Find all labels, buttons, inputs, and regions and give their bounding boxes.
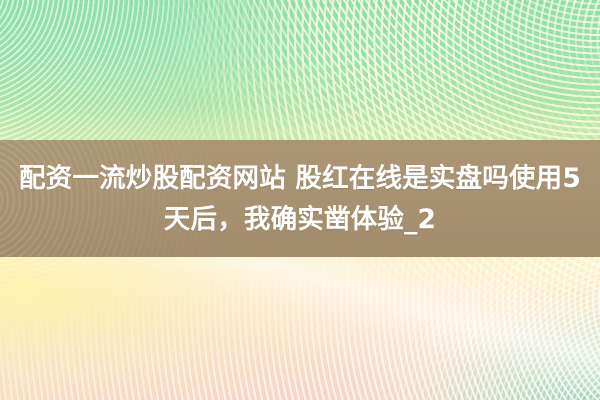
headline-band: 配资一流炒股配资网站 股红在线是实盘吗使用5天后，我确实凿体验_2 [0, 140, 600, 257]
banner-headline: 配资一流炒股配资网站 股红在线是实盘吗使用5天后，我确实凿体验_2 [0, 158, 600, 240]
decorative-headline-banner: 配资一流炒股配资网站 股红在线是实盘吗使用5天后，我确实凿体验_2 [0, 0, 600, 400]
